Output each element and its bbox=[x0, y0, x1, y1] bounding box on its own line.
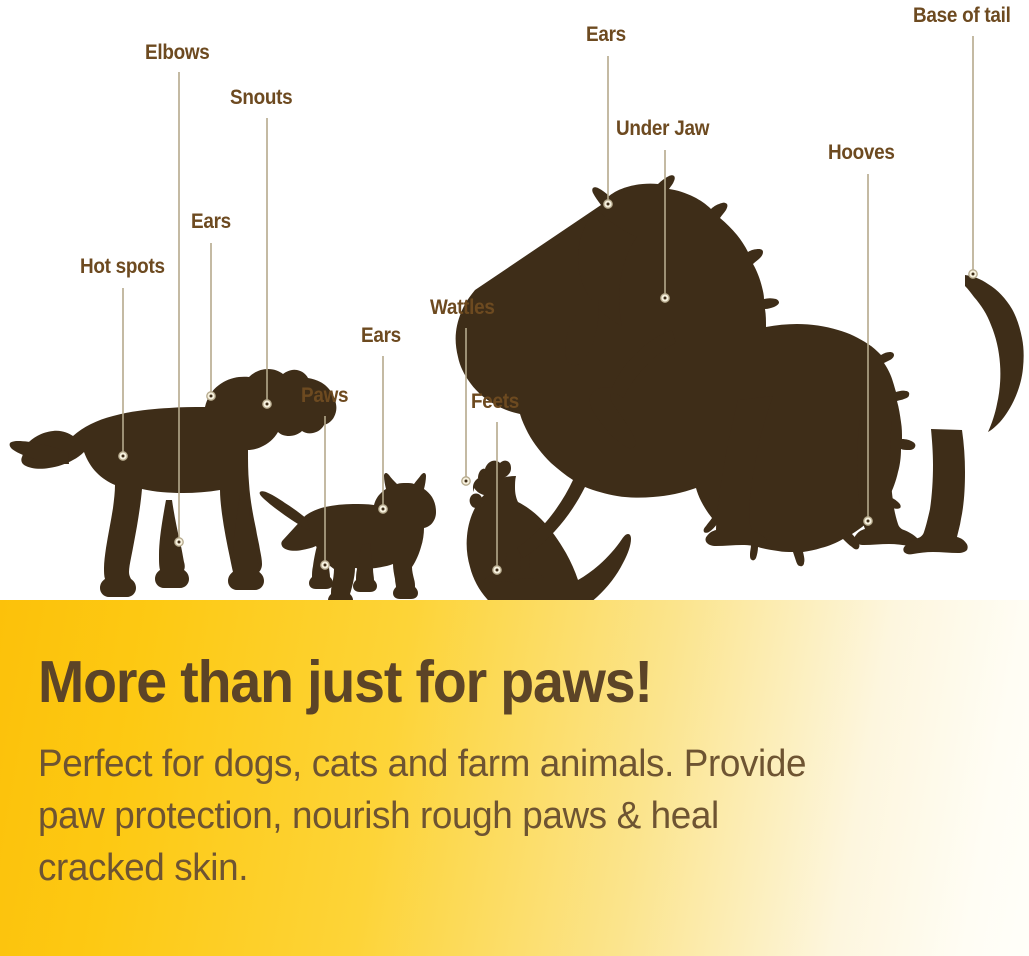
callout-marker-core-ears-dog bbox=[210, 395, 213, 398]
callout-label-hooves: Hooves bbox=[828, 142, 895, 163]
callout-label-snouts: Snouts bbox=[230, 87, 292, 108]
callout-label-ears-dog: Ears bbox=[191, 211, 231, 232]
callout-label-elbows: Elbows bbox=[145, 42, 210, 63]
callout-marker-core-wattles bbox=[465, 480, 468, 483]
callout-label-wattles: Wattles bbox=[430, 297, 495, 318]
callout-marker-core-elbows bbox=[178, 541, 181, 544]
animal-callout-diagram: Hot spotsElbowsEarsSnoutsPawsEarsWattles… bbox=[0, 0, 1029, 600]
page-title: More than just for paws! bbox=[38, 653, 652, 712]
promo-description: Perfect for dogs, cats and farm animals.… bbox=[38, 738, 998, 894]
promo-description-line: Perfect for dogs, cats and farm animals.… bbox=[38, 738, 969, 790]
callout-label-paws: Paws bbox=[301, 385, 348, 406]
callout-marker-core-hooves bbox=[867, 520, 870, 523]
promo-copy-panel: More than just for paws! Perfect for dog… bbox=[0, 600, 1029, 956]
callout-label-ears-horse: Ears bbox=[586, 24, 626, 45]
callout-marker-core-ears-horse bbox=[607, 203, 610, 206]
callout-marker-core-ears-cat bbox=[382, 508, 385, 511]
cat-silhouette bbox=[260, 473, 436, 600]
poster-root: Hot spotsElbowsEarsSnoutsPawsEarsWattles… bbox=[0, 0, 1029, 956]
callout-label-hot-spots: Hot spots bbox=[80, 256, 165, 277]
dog-silhouette bbox=[10, 369, 337, 597]
callout-marker-core-hot-spots bbox=[122, 455, 125, 458]
callout-label-feets: Feets bbox=[471, 391, 519, 412]
callout-label-under-jaw: Under Jaw bbox=[616, 118, 709, 139]
callout-marker-core-base-of-tail bbox=[972, 273, 975, 276]
callout-label-ears-cat: Ears bbox=[361, 325, 401, 346]
horse-silhouette bbox=[456, 175, 1024, 566]
animal-silhouettes-svg bbox=[0, 0, 1029, 600]
callout-marker-core-under-jaw bbox=[664, 297, 667, 300]
promo-description-line: paw protection, nourish rough paws & hea… bbox=[38, 790, 969, 842]
callout-label-base-of-tail: Base of tail bbox=[913, 5, 1011, 26]
callout-marker-core-feets bbox=[496, 569, 499, 572]
callout-marker-core-snouts bbox=[266, 403, 269, 406]
promo-description-line: cracked skin. bbox=[38, 842, 969, 894]
callout-marker-core-paws bbox=[324, 564, 327, 567]
